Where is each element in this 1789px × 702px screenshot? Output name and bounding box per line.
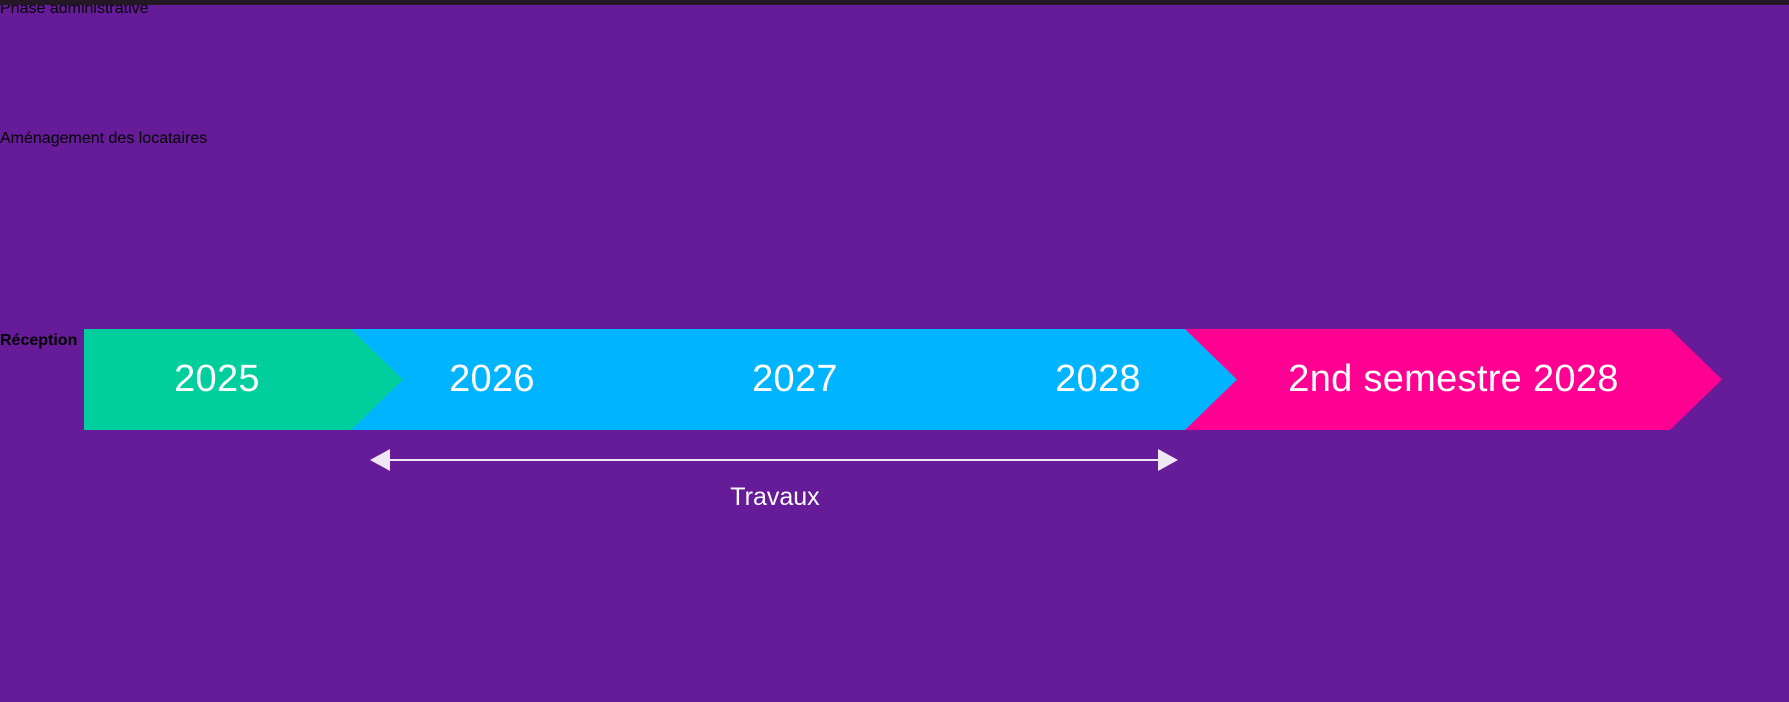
timeline-diagram: Phase administrative Aménagement des loc… <box>0 0 1789 702</box>
leader-line-phase-administrative <box>0 18 1789 130</box>
callout-travaux: Travaux <box>575 483 975 512</box>
leader-line-reception <box>0 264 1789 332</box>
segment-label-2027: 2027 <box>706 329 884 430</box>
top-edge-strip <box>0 0 1789 5</box>
travaux-range-arrow-icon <box>370 443 1178 477</box>
callout-amenagement-des-locataires: Aménagement des locataires <box>0 130 290 148</box>
segment-label-2028: 2028 <box>1009 329 1187 430</box>
timeline-bar: 2025 2026 2027 2028 2nd semestre 2028 <box>0 329 1789 430</box>
segment-label-2025: 2025 <box>84 329 350 430</box>
leader-line-amenagement-des-locataires <box>0 148 1789 264</box>
segment-label-2026: 2026 <box>403 329 581 430</box>
segment-label-2nd-semestre-2028: 2nd semestre 2028 <box>1237 329 1670 430</box>
